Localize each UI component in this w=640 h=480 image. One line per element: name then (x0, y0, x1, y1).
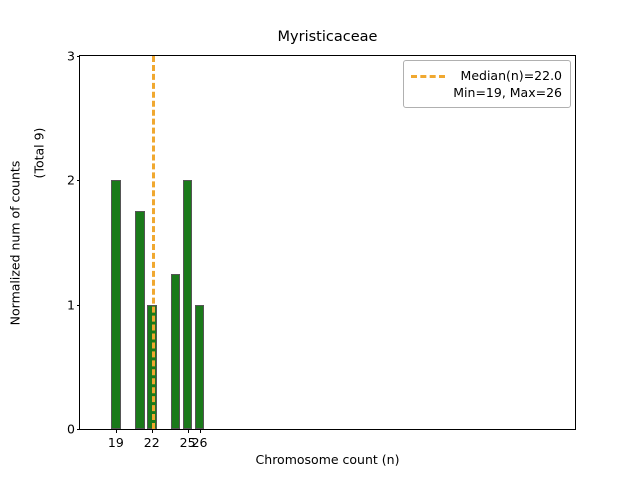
legend: Median(n)=22.0 Min=19, Max=26 (403, 60, 571, 108)
y-axis-title-container: Normalized num of counts (0, 55, 30, 430)
matplotlib-figure: Myristicaceae Normalized num of counts (… (0, 0, 640, 480)
median-line (152, 56, 155, 429)
y-axis-tick (77, 180, 81, 181)
y-axis-tick (77, 305, 81, 306)
x-axis-title: Chromosome count (n) (79, 452, 576, 467)
bar (111, 180, 121, 429)
y-axis-tick-label: 1 (67, 297, 75, 312)
bar (135, 211, 145, 429)
legend-label: Median(n)=22.0 Min=19, Max=26 (453, 67, 562, 101)
x-axis-tick-label: 22 (144, 435, 160, 450)
bar (183, 180, 193, 429)
x-axis-tick (116, 429, 117, 433)
y-axis-tick (77, 429, 81, 430)
y-axis-tick (77, 56, 81, 57)
bar (171, 274, 181, 429)
x-axis-tick-label: 19 (108, 435, 124, 450)
y-axis-tick-label: 3 (67, 49, 75, 64)
legend-label-range: Min=19, Max=26 (453, 84, 562, 101)
legend-dashed-line-icon (411, 75, 445, 78)
plot-area: Median(n)=22.0 Min=19, Max=26 0123192225… (79, 55, 576, 430)
y-axis-subtitle: (Total 9) (32, 127, 47, 178)
y-axis-title: Normalized num of counts (8, 160, 23, 325)
legend-label-median: Median(n)=22.0 (453, 67, 562, 84)
bar (195, 305, 205, 429)
x-axis-tick (152, 429, 153, 433)
page-title: Myristicaceae (79, 28, 576, 46)
x-axis-tick (188, 429, 189, 433)
x-axis-tick (200, 429, 201, 433)
x-axis-tick-label: 26 (192, 435, 208, 450)
y-axis-subtitle-container: (Total 9) (28, 55, 50, 430)
y-axis-tick-label: 2 (67, 173, 75, 188)
y-axis-tick-label: 0 (67, 422, 75, 437)
